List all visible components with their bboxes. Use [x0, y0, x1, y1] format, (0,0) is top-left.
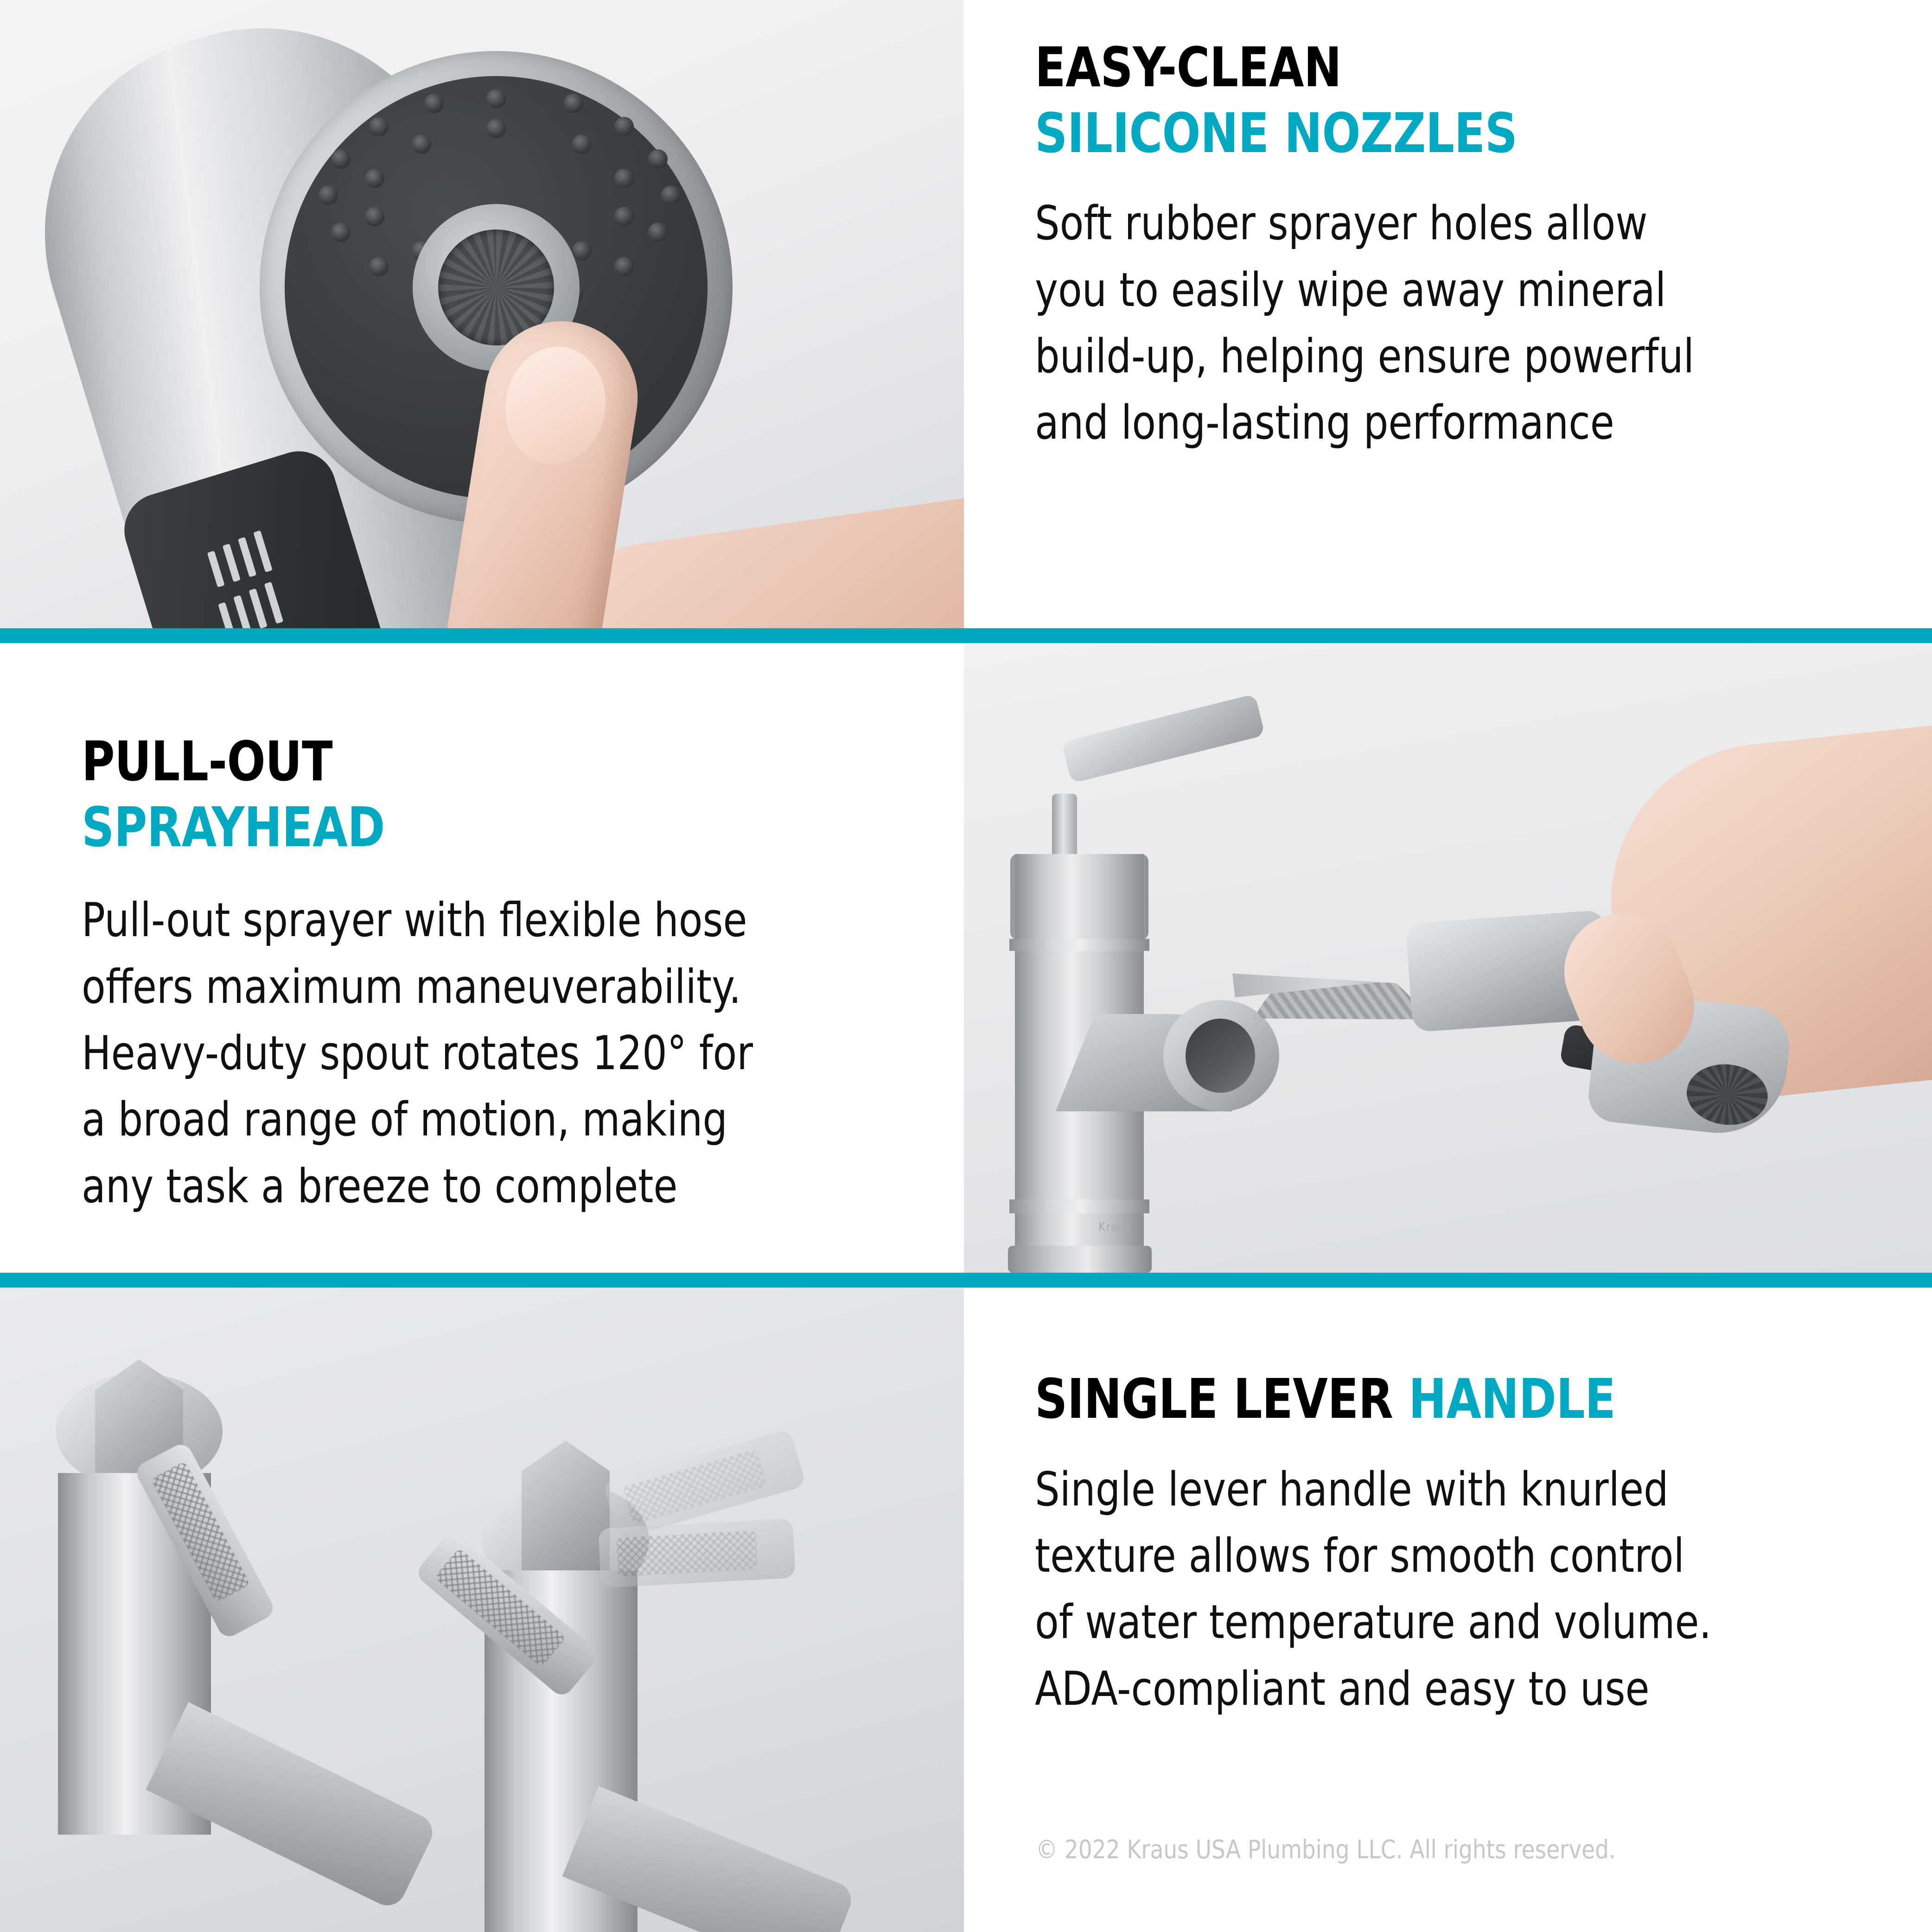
panel-2-heading: PULL-OUT SPRAYHEAD: [82, 729, 807, 860]
divider-teal-bottom: [0, 1273, 1932, 1288]
panel-3-body-line-1: Single lever handle with knurled: [1035, 1456, 1785, 1523]
photo-background: [0, 0, 964, 628]
photo-background: [0, 1288, 964, 1932]
panel-1-body-line-4: and long-lasting performance: [1035, 389, 1742, 456]
panel-3-heading-line2: HANDLE: [1409, 1367, 1615, 1431]
infographic-page: EASY-CLEAN SILICONE NOZZLES Soft rubber …: [0, 0, 1932, 1932]
fingernail: [497, 339, 614, 472]
panel-2-heading-line1: PULL-OUT: [82, 729, 332, 793]
feature-panel-pull-out: PULL-OUT SPRAYHEAD Pull-out sprayer with…: [0, 643, 1932, 1273]
pull-out-text-block: PULL-OUT SPRAYHEAD Pull-out sprayer with…: [0, 643, 964, 1273]
panel-3-body-line-2: texture allows for smooth control: [1035, 1523, 1785, 1589]
panel-1-body-line-2: you to easily wipe away mineral: [1035, 257, 1742, 323]
panel-1-body-line-1: Soft rubber sprayer holes allow: [1035, 190, 1742, 256]
panel-2-heading-line2: SPRAYHEAD: [82, 795, 807, 861]
divider-teal-top: [0, 628, 1932, 643]
spout-opening: [1186, 1019, 1255, 1093]
sprayhead-nozzle-face: [1683, 1060, 1771, 1129]
handle-wedge-right: [522, 1441, 610, 1580]
sprayhead-nozzle-photo: [0, 0, 964, 628]
panel-3-heading: SINGLE LEVER HANDLE: [1035, 1366, 1777, 1432]
panel-2-body-line-5: any task a breeze to complete: [82, 1153, 815, 1219]
pull-out-sprayhead-photo: Kraus: [964, 643, 1932, 1273]
feature-panel-easy-clean: EASY-CLEAN SILICONE NOZZLES Soft rubber …: [0, 0, 1932, 628]
single-lever-text-block: SINGLE LEVER HANDLE Single lever handle …: [964, 1288, 1932, 1932]
panel-3-heading-line1: SINGLE LEVER: [1035, 1367, 1409, 1431]
panel-1-heading-line1: EASY-CLEAN: [1035, 35, 1341, 99]
spout-arm-left: [146, 1702, 438, 1912]
panel-1-heading: EASY-CLEAN SILICONE NOZZLES: [1035, 35, 1734, 166]
kraus-logo: Kraus: [1098, 1220, 1131, 1234]
copyright-notice: © 2022 Kraus USA Plumbing LLC. All right…: [1036, 1835, 1616, 1864]
panel-1-heading-line2: SILICONE NOZZLES: [1035, 101, 1734, 166]
panel-2-body-line-4: a broad range of motion, making: [82, 1086, 815, 1153]
panel-1-body-line-3: build-up, helping ensure powerful: [1035, 323, 1742, 389]
knurled-texture: [623, 1448, 768, 1524]
faucet-base-nut: [1008, 1246, 1152, 1273]
faucet-ring-upper: [1009, 939, 1149, 951]
panel-3-body-line-4: ADA-compliant and easy to use: [1035, 1656, 1785, 1722]
panel-2-body-line-3: Heavy-duty spout rotates 120° for: [82, 1020, 815, 1086]
faucet-lever-handle: [1061, 694, 1265, 783]
feature-panel-single-lever: SINGLE LEVER HANDLE Single lever handle …: [0, 1288, 1932, 1932]
panel-2-body-line-1: Pull-out sprayer with flexible hose: [82, 887, 815, 953]
panel-3-body-line-3: of water temperature and volume.: [1035, 1589, 1785, 1655]
easy-clean-text-block: EASY-CLEAN SILICONE NOZZLES Soft rubber …: [964, 0, 1932, 628]
single-lever-handle-photo: [0, 1288, 964, 1932]
faucet-ring-lower: [1009, 1199, 1149, 1213]
knurled-texture: [616, 1530, 758, 1577]
panel-2-body-line-2: offers maximum maneuverability.: [82, 954, 815, 1020]
photo-background: Kraus: [964, 643, 1932, 1273]
